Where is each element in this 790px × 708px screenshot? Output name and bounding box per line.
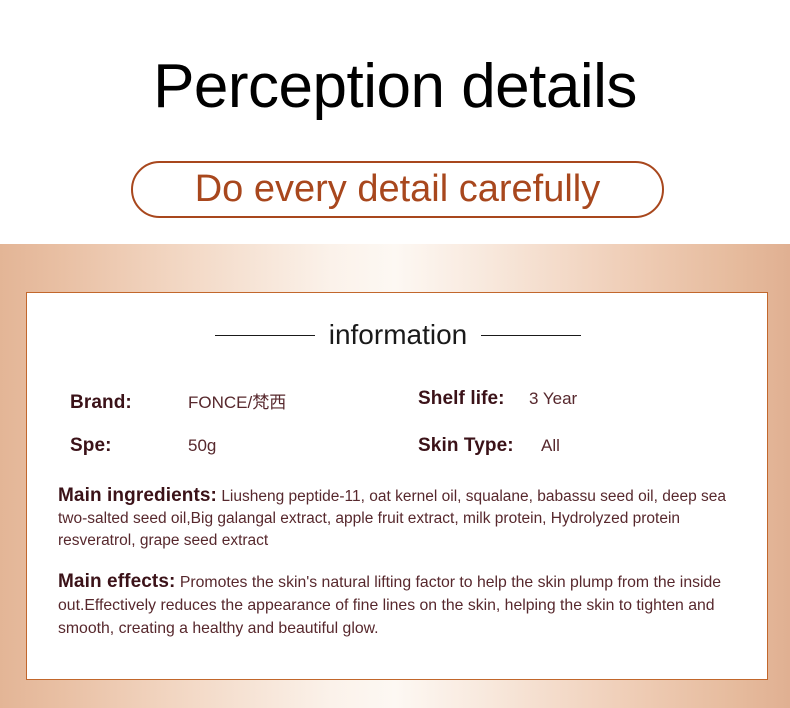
- spec-label-spe: Spe:: [70, 435, 188, 457]
- heading-rule-right: [481, 335, 581, 336]
- spec-row: Spe: 50g Skin Type: All: [27, 435, 769, 482]
- header-band: Perception details Do every detail caref…: [0, 0, 790, 244]
- spec-shelf-life: Shelf life: 3 Year: [418, 388, 577, 410]
- page-title: Perception details: [0, 56, 790, 118]
- product-detail-page: Perception details Do every detail caref…: [0, 0, 790, 708]
- subtitle-text: Do every detail carefully: [195, 170, 601, 208]
- spec-label-brand: Brand:: [70, 392, 188, 414]
- heading-rule-left: [215, 335, 315, 336]
- spec-row: Brand: FONCE/梵西 Shelf life: 3 Year: [27, 388, 769, 435]
- spec-value-shelf-life: 3 Year: [529, 389, 577, 409]
- spec-spe: Spe: 50g: [70, 435, 216, 457]
- ingredients-block: Main ingredients: Liusheng peptide-11, o…: [58, 485, 758, 552]
- spec-value-brand: FONCE/梵西: [188, 388, 286, 413]
- spec-brand: Brand: FONCE/梵西: [70, 388, 286, 414]
- subtitle-pill: Do every detail carefully: [131, 161, 664, 218]
- ingredients-paragraph: Main ingredients: Liusheng peptide-11, o…: [58, 485, 758, 552]
- spec-label-skin-type: Skin Type:: [418, 435, 541, 457]
- spec-value-skin-type: All: [541, 436, 560, 456]
- spec-skin-type: Skin Type: All: [418, 435, 560, 457]
- spec-label-shelf-life: Shelf life:: [418, 388, 529, 410]
- spec-value-spe: 50g: [188, 436, 216, 456]
- effects-block: Main effects: Promotes the skin's natura…: [58, 570, 758, 640]
- information-card: information Brand: FONCE/梵西 Shelf life: …: [26, 292, 768, 680]
- information-heading-label: information: [329, 321, 468, 349]
- effects-paragraph: Main effects: Promotes the skin's natura…: [58, 570, 758, 640]
- information-heading: information: [27, 321, 769, 349]
- ingredients-label: Main ingredients:: [58, 485, 217, 506]
- effects-label: Main effects:: [58, 571, 175, 592]
- spec-grid: Brand: FONCE/梵西 Shelf life: 3 Year Spe: …: [27, 388, 769, 482]
